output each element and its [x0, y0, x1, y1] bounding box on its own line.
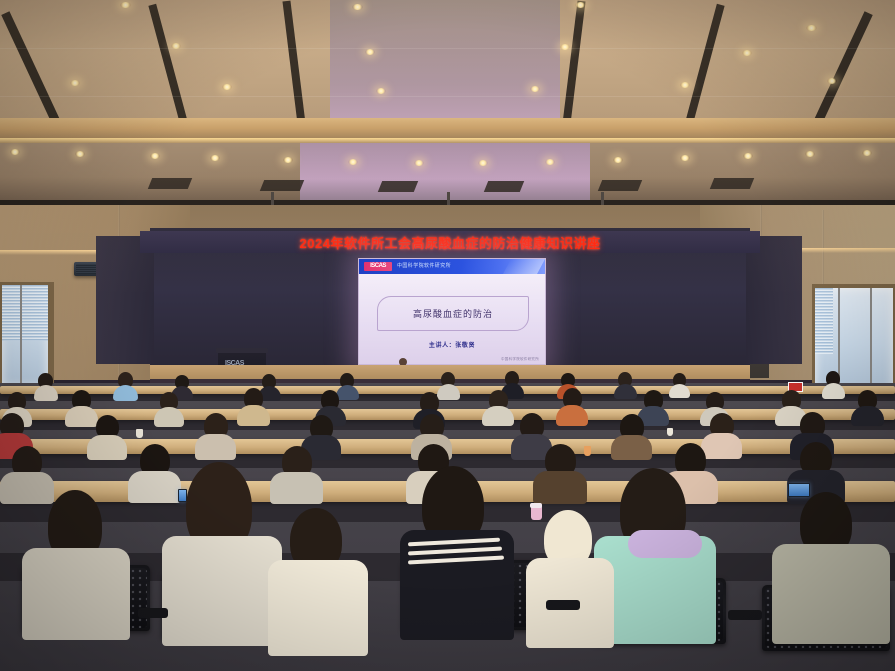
ceiling-downlight	[352, 4, 363, 10]
tablet-device[interactable]	[788, 483, 810, 497]
ceiling-downlight	[478, 160, 488, 166]
ceiling-downlight	[805, 151, 815, 157]
ceiling-lower-center	[300, 143, 590, 203]
ceiling-vent	[484, 181, 524, 192]
paper-cup	[584, 446, 591, 456]
ceiling-downlight	[806, 25, 817, 31]
ceiling-downlight	[70, 80, 80, 86]
attendee-torso	[195, 434, 236, 460]
ceiling-downlight	[680, 82, 690, 88]
table-row-2	[0, 409, 895, 420]
stage-wall-right-wing	[746, 236, 802, 364]
iscas-logo: ISCAS	[364, 262, 392, 271]
attendee-torso	[162, 536, 282, 646]
attendee-torso	[701, 433, 742, 459]
ceiling-downlight	[120, 2, 131, 8]
attendee-torso	[533, 471, 587, 504]
ceiling-downlight	[75, 151, 85, 157]
attendee-torso	[270, 472, 323, 504]
slide-header-subtitle: 中国科学院软件研究所	[397, 262, 451, 269]
paper-cup	[667, 428, 673, 436]
ceiling-downlight	[530, 86, 540, 92]
attendee-torso	[669, 384, 690, 398]
hood-collar	[628, 530, 702, 558]
attendee-torso	[268, 560, 368, 656]
attendee-torso	[822, 383, 845, 399]
attendee-torso	[22, 548, 130, 640]
ceiling-vent	[710, 178, 754, 189]
attendee-torso	[0, 472, 54, 504]
chair-armrest	[138, 608, 168, 618]
chair-armrest	[728, 610, 762, 620]
ceiling-downlight	[862, 150, 872, 156]
attendee-torso	[482, 406, 514, 426]
stage-wall-left-wing	[96, 236, 154, 364]
banner-text: 2024年软件所工会高尿酸血症的防治健康知识讲座	[300, 233, 601, 252]
attendee-torso	[437, 384, 460, 400]
attendee-torso	[611, 435, 652, 460]
podium-top	[216, 348, 268, 353]
projection-screen: ISCAS 中国科学院软件研究所 高尿酸血症的防治 主讲人：张敬贤 中国科学院软…	[358, 258, 546, 365]
ceiling-downlight	[210, 155, 220, 161]
attendee-torso	[65, 406, 98, 427]
tablet-screen	[789, 484, 809, 496]
ceiling-downlight	[365, 49, 375, 55]
slide-presenter: 主讲人：张敬贤	[359, 340, 545, 349]
attendee-torso	[556, 405, 588, 426]
ceiling-downlight	[283, 157, 293, 163]
window-blinds[interactable]	[815, 288, 833, 354]
attendee-torso	[772, 544, 890, 644]
window-blinds[interactable]	[2, 285, 48, 341]
ceiling-vent	[148, 178, 192, 189]
ceiling-downlight	[222, 84, 232, 90]
slide-title: 高尿酸血症的防治	[413, 307, 493, 320]
ceiling-downlight	[10, 149, 20, 155]
attendee-torso	[128, 471, 181, 503]
paper-cup	[136, 429, 143, 438]
ceiling-downlight	[827, 78, 837, 84]
window-left	[2, 285, 48, 387]
paper-cup	[530, 503, 542, 508]
slide-footer: 中国科学院软件研究所	[501, 357, 539, 362]
ceiling-vent	[378, 181, 418, 192]
ceiling-downlight	[348, 159, 358, 165]
ceiling-downlight	[545, 159, 555, 165]
ceiling-downlight	[560, 44, 570, 50]
ceiling-downlight	[743, 153, 753, 159]
attendee-torso	[87, 435, 127, 460]
ceiling-downlight	[171, 43, 181, 49]
attendee-torso	[237, 405, 270, 426]
lecture-hall-photo: 福 福 ■■■ ■ ■ ■ ■ ■■■ 2024年软件所工会高尿酸血症的防治健康…	[0, 0, 895, 671]
ceiling-vent	[598, 180, 642, 191]
slide-body: 高尿酸血症的防治 主讲人：张敬贤 中国科学院软件研究所	[359, 274, 545, 364]
attendee-torso	[154, 407, 184, 427]
chair-armrest	[546, 600, 580, 610]
ceiling-vent	[260, 180, 304, 191]
ceiling-downlight	[742, 50, 752, 56]
attendee-torso	[851, 406, 884, 426]
ceiling-panel-seam	[0, 96, 895, 97]
ceiling-downlight	[575, 2, 586, 8]
slide-title-box: 高尿酸血症的防治	[377, 296, 529, 331]
phone-screen	[179, 490, 186, 501]
ceiling-downlight	[680, 155, 690, 161]
window-mullion	[20, 285, 22, 387]
led-banner: 2024年软件所工会高尿酸血症的防治健康知识讲座	[140, 231, 760, 253]
ceiling-downlight	[613, 157, 623, 163]
window-mullion	[870, 288, 872, 391]
ceiling-downlight	[150, 153, 160, 159]
ceiling-downlight	[376, 88, 386, 94]
ceiling-downlight	[414, 160, 424, 166]
ceiling-panel-seam	[0, 48, 895, 49]
